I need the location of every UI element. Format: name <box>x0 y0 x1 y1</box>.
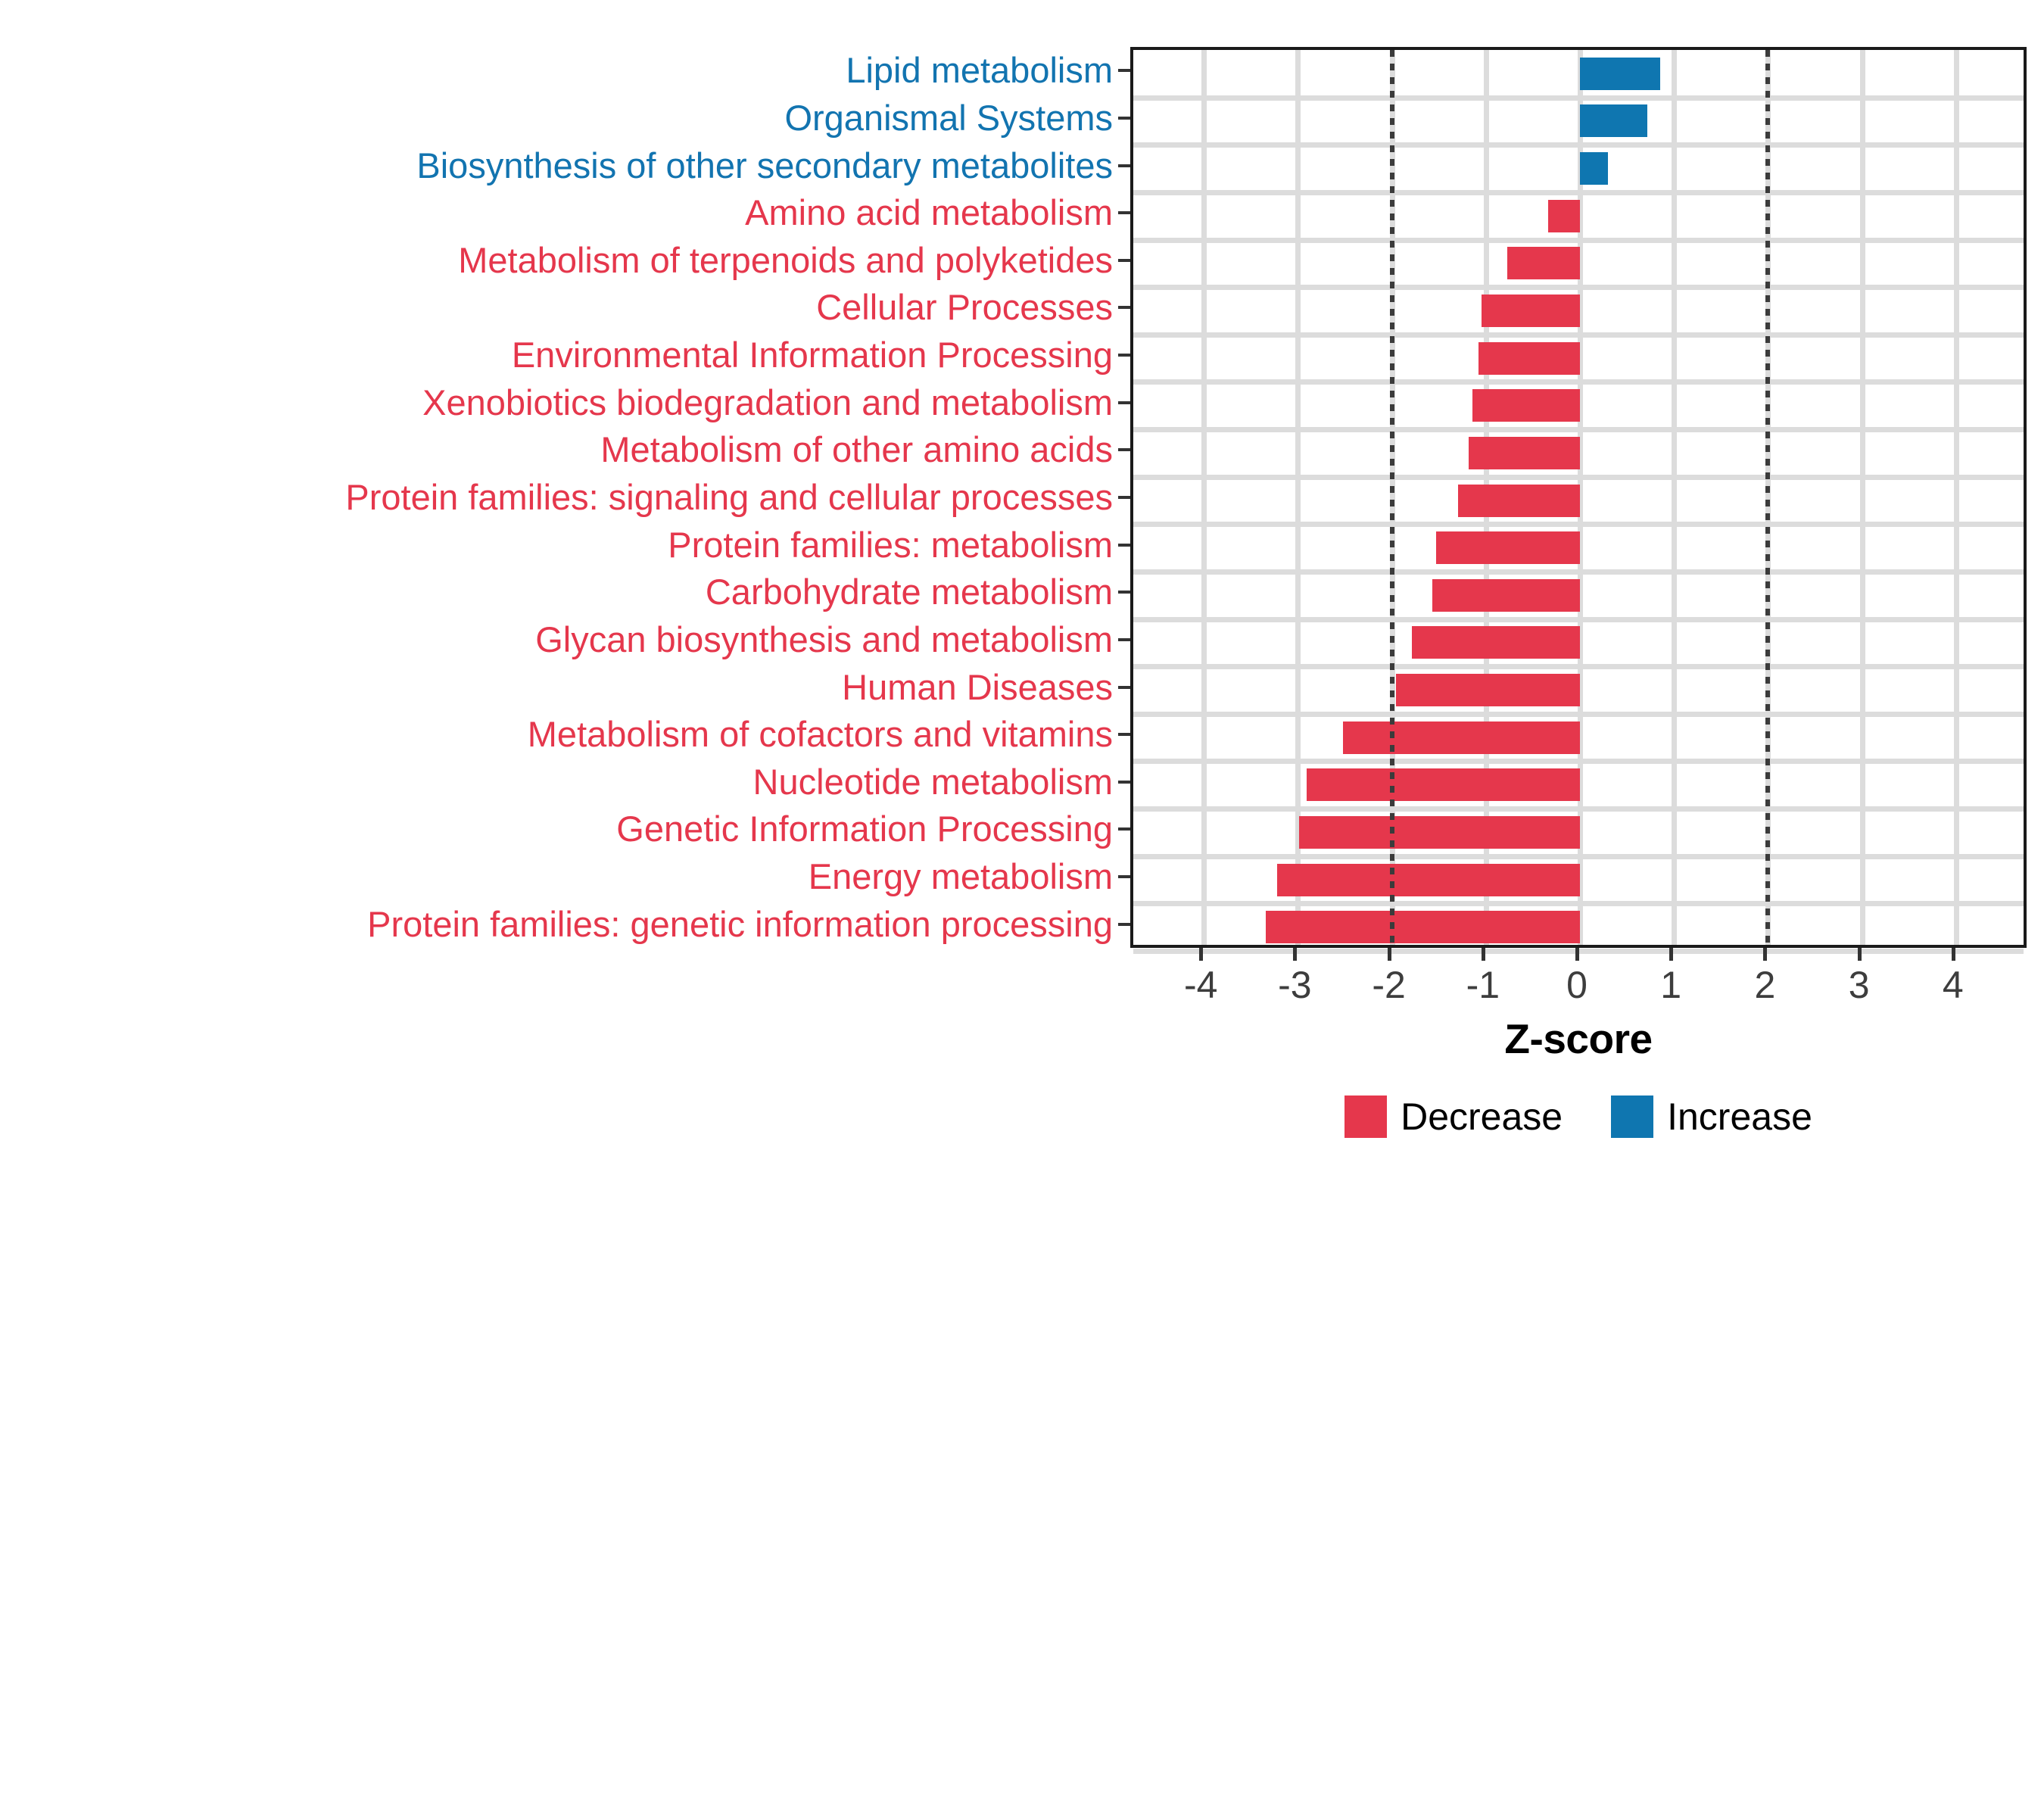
horizontal-gridline <box>1133 522 2024 527</box>
bar <box>1432 579 1580 612</box>
x-axis-tick-label: -2 <box>1344 965 1435 1005</box>
legend-label: Increase <box>1667 1097 1812 1136</box>
x-axis-title: Z-score <box>1130 1014 2027 1063</box>
y-axis-tick <box>1118 875 1130 878</box>
y-axis-label: Environmental Information Processing <box>0 337 1113 372</box>
bar <box>1472 389 1580 422</box>
bar <box>1299 816 1580 849</box>
x-axis-tick <box>1575 948 1579 961</box>
horizontal-gridline <box>1133 285 2024 290</box>
y-axis-tick <box>1118 117 1130 120</box>
y-axis-tick <box>1118 164 1130 167</box>
y-axis-tick <box>1118 733 1130 736</box>
y-axis-label: Lipid metabolism <box>0 52 1113 88</box>
y-axis-label: Biosynthesis of other secondary metaboli… <box>0 148 1113 183</box>
y-axis-label: Nucleotide metabolism <box>0 764 1113 799</box>
legend-item[interactable]: Increase <box>1611 1095 1812 1138</box>
x-axis-tick <box>1669 948 1673 961</box>
legend: DecreaseIncrease <box>1130 1090 2027 1143</box>
x-axis-tick <box>1858 948 1862 961</box>
bar <box>1482 295 1580 327</box>
horizontal-gridline <box>1133 427 2024 432</box>
reference-line <box>1390 50 1394 945</box>
legend-label: Decrease <box>1401 1097 1563 1136</box>
y-axis-label: Xenobiotics biodegradation and metabolis… <box>0 385 1113 420</box>
x-axis-tick <box>1388 948 1391 961</box>
y-axis-label: Energy metabolism <box>0 859 1113 894</box>
y-axis-tick <box>1118 401 1130 404</box>
bar <box>1436 531 1580 564</box>
x-axis-tick <box>1763 948 1767 961</box>
horizontal-gridline <box>1133 617 2024 622</box>
y-axis-tick <box>1118 496 1130 499</box>
horizontal-gridline <box>1133 759 2024 764</box>
horizontal-gridline <box>1133 95 2024 101</box>
y-axis-label: Glycan biosynthesis and metabolism <box>0 622 1113 657</box>
y-axis-label: Metabolism of cofactors and vitamins <box>0 716 1113 752</box>
plot-area <box>1133 50 2024 945</box>
bar <box>1580 152 1608 185</box>
bar <box>1266 911 1580 943</box>
chart-root: Lipid metabolismOrganismal SystemsBiosyn… <box>0 0 2044 1817</box>
horizontal-gridline <box>1133 475 2024 480</box>
y-axis-tick <box>1118 544 1130 547</box>
y-axis-tick <box>1118 211 1130 214</box>
y-axis-label: Human Diseases <box>0 669 1113 705</box>
x-axis-tick-label: 0 <box>1531 965 1622 1005</box>
y-axis-tick <box>1118 259 1130 262</box>
y-axis-label: Amino acid metabolism <box>0 195 1113 230</box>
horizontal-gridline <box>1133 569 2024 575</box>
bar <box>1277 864 1580 896</box>
horizontal-gridline <box>1133 712 2024 717</box>
x-axis-tick <box>1293 948 1297 961</box>
horizontal-gridline <box>1133 664 2024 669</box>
bar <box>1548 200 1580 232</box>
x-axis-tick-label: 4 <box>1908 965 1999 1005</box>
bar <box>1412 626 1580 659</box>
y-axis-label: Organismal Systems <box>0 100 1113 136</box>
bar <box>1507 247 1580 279</box>
y-axis-tick <box>1118 448 1130 451</box>
horizontal-gridline <box>1133 190 2024 195</box>
horizontal-gridline <box>1133 379 2024 385</box>
y-axis-label: Protein families: genetic information pr… <box>0 906 1113 942</box>
x-axis-tick <box>1952 948 1955 961</box>
y-axis-label: Carbohydrate metabolism <box>0 574 1113 609</box>
y-axis-label: Metabolism of other amino acids <box>0 432 1113 467</box>
legend-swatch-icon <box>1611 1095 1653 1138</box>
horizontal-gridline <box>1133 332 2024 338</box>
x-axis-tick-label: 2 <box>1719 965 1810 1005</box>
y-axis-tick <box>1118 69 1130 72</box>
bar <box>1580 58 1660 90</box>
y-axis-label: Protein families: metabolism <box>0 527 1113 563</box>
bar <box>1469 437 1580 469</box>
y-axis-tick <box>1118 354 1130 357</box>
bar <box>1307 768 1580 801</box>
y-axis-tick <box>1118 781 1130 784</box>
legend-swatch-icon <box>1344 1095 1387 1138</box>
horizontal-gridline <box>1133 854 2024 859</box>
y-axis-label: Genetic Information Processing <box>0 811 1113 846</box>
x-axis-tick-label: -4 <box>1155 965 1246 1005</box>
x-axis-tick-label: 1 <box>1625 965 1716 1005</box>
y-axis-labels: Lipid metabolismOrganismal SystemsBiosyn… <box>0 47 1113 948</box>
plot-panel <box>1130 47 2027 948</box>
bar <box>1396 674 1580 706</box>
y-axis-tick <box>1118 306 1130 309</box>
y-axis-label: Protein families: signaling and cellular… <box>0 479 1113 515</box>
horizontal-gridline <box>1133 901 2024 906</box>
x-axis-tick-label: 3 <box>1814 965 1905 1005</box>
x-axis-tick-label: -3 <box>1249 965 1340 1005</box>
legend-item[interactable]: Decrease <box>1344 1095 1563 1138</box>
y-axis-tick <box>1118 686 1130 689</box>
bar <box>1458 485 1580 517</box>
x-axis-tick <box>1482 948 1485 961</box>
y-axis-tick <box>1118 827 1130 831</box>
x-axis-tick-label: -1 <box>1438 965 1528 1005</box>
horizontal-gridline <box>1133 238 2024 243</box>
reference-line <box>1765 50 1770 945</box>
horizontal-gridline <box>1133 806 2024 812</box>
y-axis-tick <box>1118 591 1130 594</box>
horizontal-gridline <box>1133 142 2024 148</box>
y-axis-label: Metabolism of terpenoids and polyketides <box>0 242 1113 278</box>
y-axis-label: Cellular Processes <box>0 289 1113 325</box>
x-axis-tick <box>1199 948 1203 961</box>
bar <box>1343 722 1580 754</box>
y-axis-tick <box>1118 638 1130 641</box>
bar <box>1478 342 1580 375</box>
y-axis-tick <box>1118 923 1130 926</box>
bar <box>1580 104 1647 137</box>
